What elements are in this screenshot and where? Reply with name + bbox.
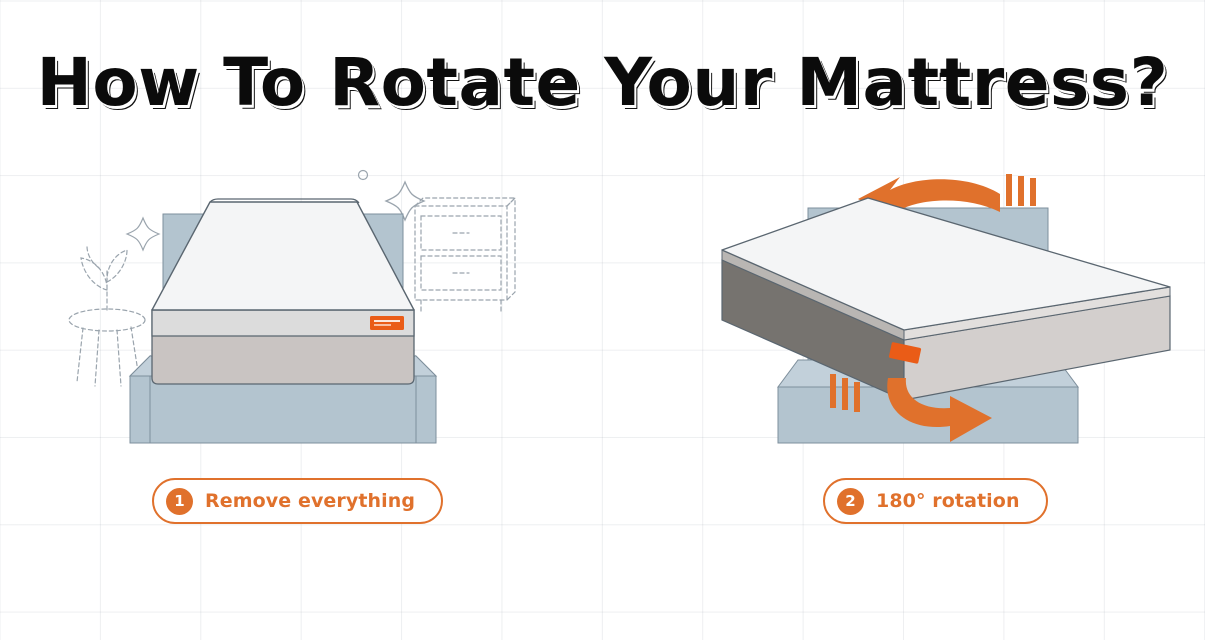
step-2-number: 2 — [837, 488, 864, 515]
step-2-label: 180° rotation — [876, 490, 1020, 512]
brand-tag — [370, 316, 404, 330]
step-1-label: Remove everything — [205, 490, 415, 512]
motion-line — [1018, 176, 1024, 206]
bed-base — [130, 376, 436, 443]
sketch-side-table-icon — [69, 246, 145, 386]
small-circle-icon — [359, 171, 368, 180]
sparkle-icon — [127, 218, 159, 250]
motion-line — [1030, 178, 1036, 206]
step-1-badge[interactable]: 1 Remove everything — [152, 478, 443, 524]
motion-line — [854, 382, 860, 412]
infographic-canvas: How To Rotate Your Mattress? — [0, 0, 1205, 640]
motion-line — [830, 374, 836, 408]
sketch-nightstand-icon — [415, 198, 515, 312]
mattress-rotation-scene — [700, 150, 1200, 460]
motion-line — [1006, 174, 1012, 206]
bed-front-view-scene — [55, 150, 555, 460]
page-title-wrapper: How To Rotate Your Mattress? — [0, 44, 1205, 122]
step-1-illustration — [55, 150, 555, 460]
page-title: How To Rotate Your Mattress? — [37, 44, 1169, 122]
step-2-badge[interactable]: 2 180° rotation — [823, 478, 1048, 524]
motion-line — [842, 378, 848, 410]
step-1-number: 1 — [166, 488, 193, 515]
step-2-illustration — [700, 150, 1200, 460]
